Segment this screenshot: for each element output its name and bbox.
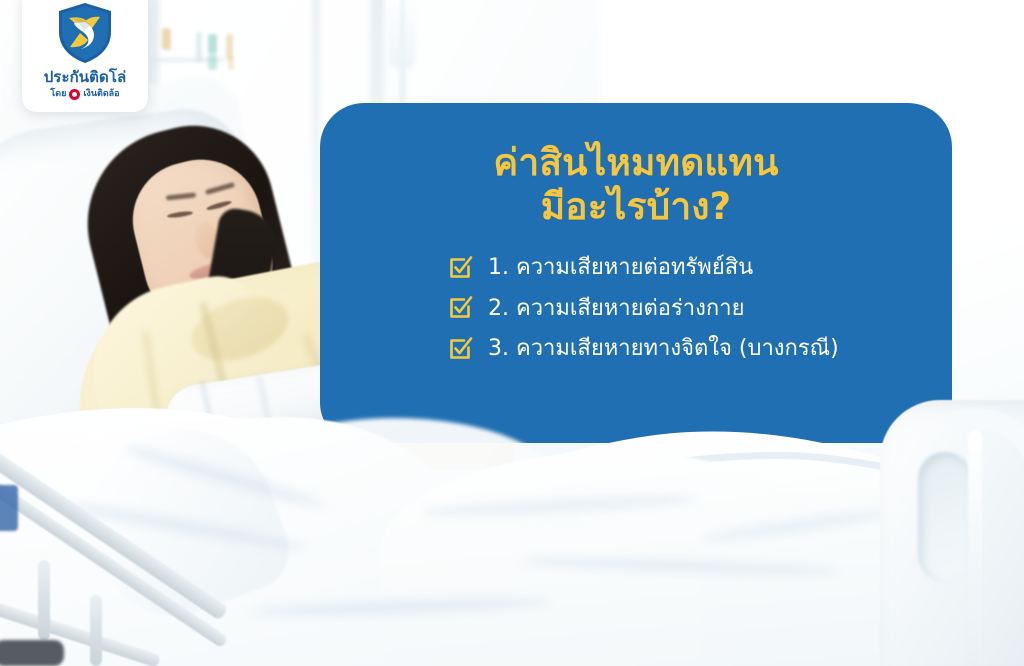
partner-mark-icon — [69, 89, 80, 100]
bed-foreground — [0, 0, 1024, 666]
brand-logo-card[interactable]: ประกันติดโล่ โดย เงินติดล้อ — [22, 0, 148, 112]
shield-icon — [56, 2, 114, 64]
bed-rail-post — [90, 595, 102, 666]
logo-partner-name: เงินติดล้อ — [83, 90, 119, 99]
bed-rail-label — [0, 485, 18, 531]
logo-by-label: โดย — [50, 90, 66, 99]
bed-rail-post — [38, 560, 50, 640]
bed-caster — [0, 640, 64, 666]
footboard-edge — [968, 430, 982, 666]
logo-title: ประกันติดโล่ — [44, 70, 127, 85]
infographic-canvas: ค่าสินไหมทดแทน มีอะไรบ้าง? 1. ความเสียหา… — [0, 0, 1024, 666]
footboard-slot — [918, 452, 972, 582]
logo-subtitle: โดย เงินติดล้อ — [50, 89, 119, 100]
